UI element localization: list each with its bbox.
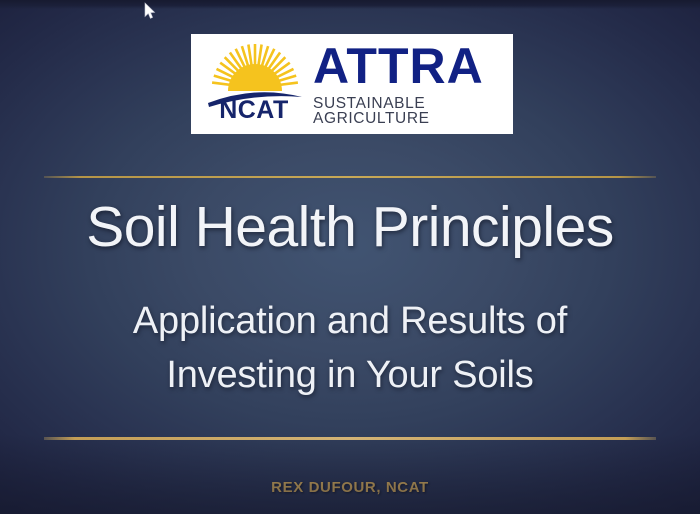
attra-wordmark: ATTRA SUSTAINABLE AGRICULTURE (313, 42, 513, 127)
slide-subtitle: Application and Results of Investing in … (0, 295, 700, 403)
presenter-credit: REX DUFOUR, NCAT (0, 479, 700, 496)
slide-title: Soil Health Principles (0, 198, 700, 258)
divider-rule-top (44, 176, 656, 178)
attra-tagline: SUSTAINABLE AGRICULTURE (313, 96, 513, 127)
presentation-slide: ATTRA SUSTAINABLE AGRICULTURE NCAT Soil … (0, 0, 700, 514)
ncat-label: NCAT (208, 96, 300, 125)
slide-subtitle-line-2: Investing in Your Soils (0, 349, 700, 403)
divider-rule-bottom (44, 437, 656, 440)
top-edge-band (0, 0, 700, 9)
slide-subtitle-line-1: Application and Results of (0, 295, 700, 349)
bottom-vignette (0, 434, 700, 514)
attra-brand-text: ATTRA (313, 42, 513, 90)
